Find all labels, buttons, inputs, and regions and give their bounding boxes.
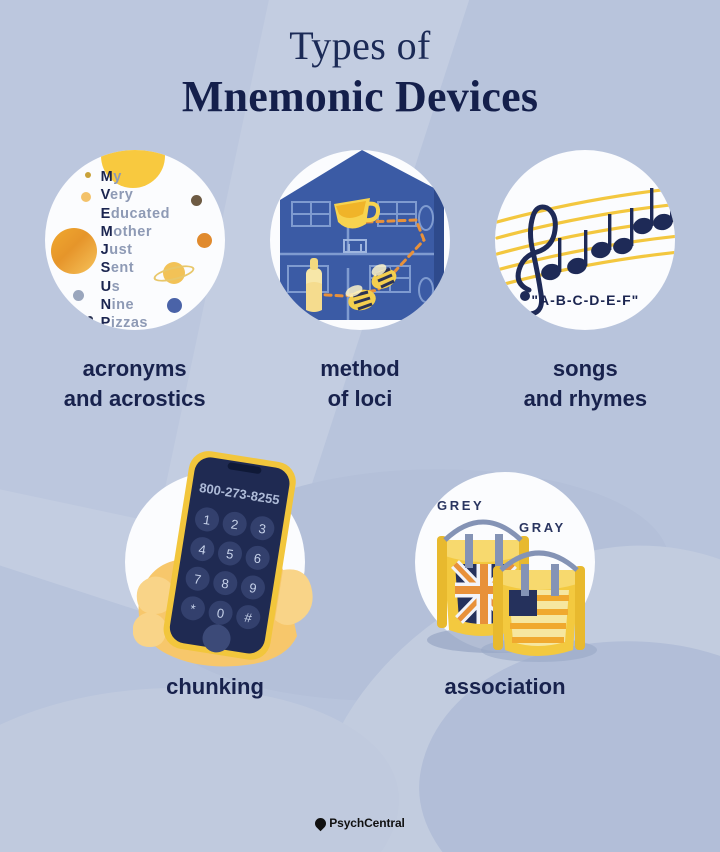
card-label-line-1: acronyms [64, 354, 206, 384]
card-label-acronyms: acronyms and acrostics [64, 354, 206, 413]
brand-name: PsychCentral [329, 816, 405, 830]
mnemonic-word: My [101, 168, 170, 186]
staff-caption: "A-B-C-D-E-F" [495, 292, 675, 308]
house-side-wall [434, 188, 444, 326]
planet-jupiter [51, 228, 97, 274]
illustration-association: GREY GRAY [415, 472, 595, 652]
planet-venus [81, 192, 91, 202]
card-row-bottom: 800-273-8255 123 456 [0, 472, 720, 702]
card-songs: "A-B-C-D-E-F" songs and rhymes [485, 150, 685, 413]
card-label-line-1: method [320, 354, 399, 384]
psychcentral-logo-icon [313, 815, 329, 831]
card-label-line-2: of loci [320, 384, 399, 414]
mnemonic-word: Nine [101, 296, 170, 314]
card-label-line-2: and rhymes [524, 384, 648, 414]
mnemonic-word: Sent [101, 259, 170, 277]
phone-in-hand-illustration: 800-273-8255 123 456 [133, 450, 343, 680]
title-line-2: Mnemonic Devices [0, 72, 720, 123]
card-label-line-1: songs [524, 354, 648, 384]
card-label-songs: songs and rhymes [524, 354, 648, 413]
background-decoration [0, 0, 720, 852]
bucket-label-gray: GRAY [519, 520, 566, 535]
music-note-3 [589, 214, 613, 260]
house-illustration [270, 150, 450, 330]
card-association: GREY GRAY [390, 472, 620, 702]
card-method-of-loci: method of loci [260, 150, 460, 413]
mnemonic-word: Mother [101, 223, 170, 241]
footer-brand: PsychCentral [0, 816, 720, 830]
card-acronyms: MyVeryEducatedMotherJustSentUsNinePizzas… [35, 150, 235, 413]
illustration-songs: "A-B-C-D-E-F" [495, 150, 675, 330]
card-row-top: MyVeryEducatedMotherJustSentUsNinePizzas… [0, 150, 720, 413]
mnemonic-word: Very [101, 186, 170, 204]
infographic-poster: Types of Mnemonic Devices [0, 0, 720, 852]
us-flag [509, 590, 569, 646]
page-title: Types of Mnemonic Devices [0, 24, 720, 123]
mnemonic-word: Pizzas [101, 314, 170, 330]
mnemonic-word: Us [101, 278, 170, 296]
music-note-5 [631, 188, 655, 236]
planet-earth-dark [191, 195, 202, 206]
card-label-method-of-loci: method of loci [320, 354, 399, 413]
mnemonic-word-list: MyVeryEducatedMotherJustSentUsNinePizzas [101, 168, 170, 330]
planet-uranus [73, 290, 84, 301]
illustration-method-of-loci [270, 150, 450, 330]
card-label-line-2: and acrostics [64, 384, 206, 414]
music-note-4 [611, 208, 635, 256]
bucket-handle-left [445, 522, 521, 540]
planet-pluto [87, 316, 93, 322]
title-line-1: Types of [0, 24, 720, 68]
illustration-chunking: 800-273-8255 123 456 [125, 472, 305, 652]
illustration-acronyms: MyVeryEducatedMotherJustSentUsNinePizzas [45, 150, 225, 330]
bucket-label-grey: GREY [437, 498, 484, 513]
mnemonic-word: Educated [101, 205, 170, 223]
planet-mars [197, 233, 212, 248]
planet-mercury [85, 172, 91, 178]
card-chunking: 800-273-8255 123 456 [100, 472, 330, 702]
mnemonic-word: Just [101, 241, 170, 259]
